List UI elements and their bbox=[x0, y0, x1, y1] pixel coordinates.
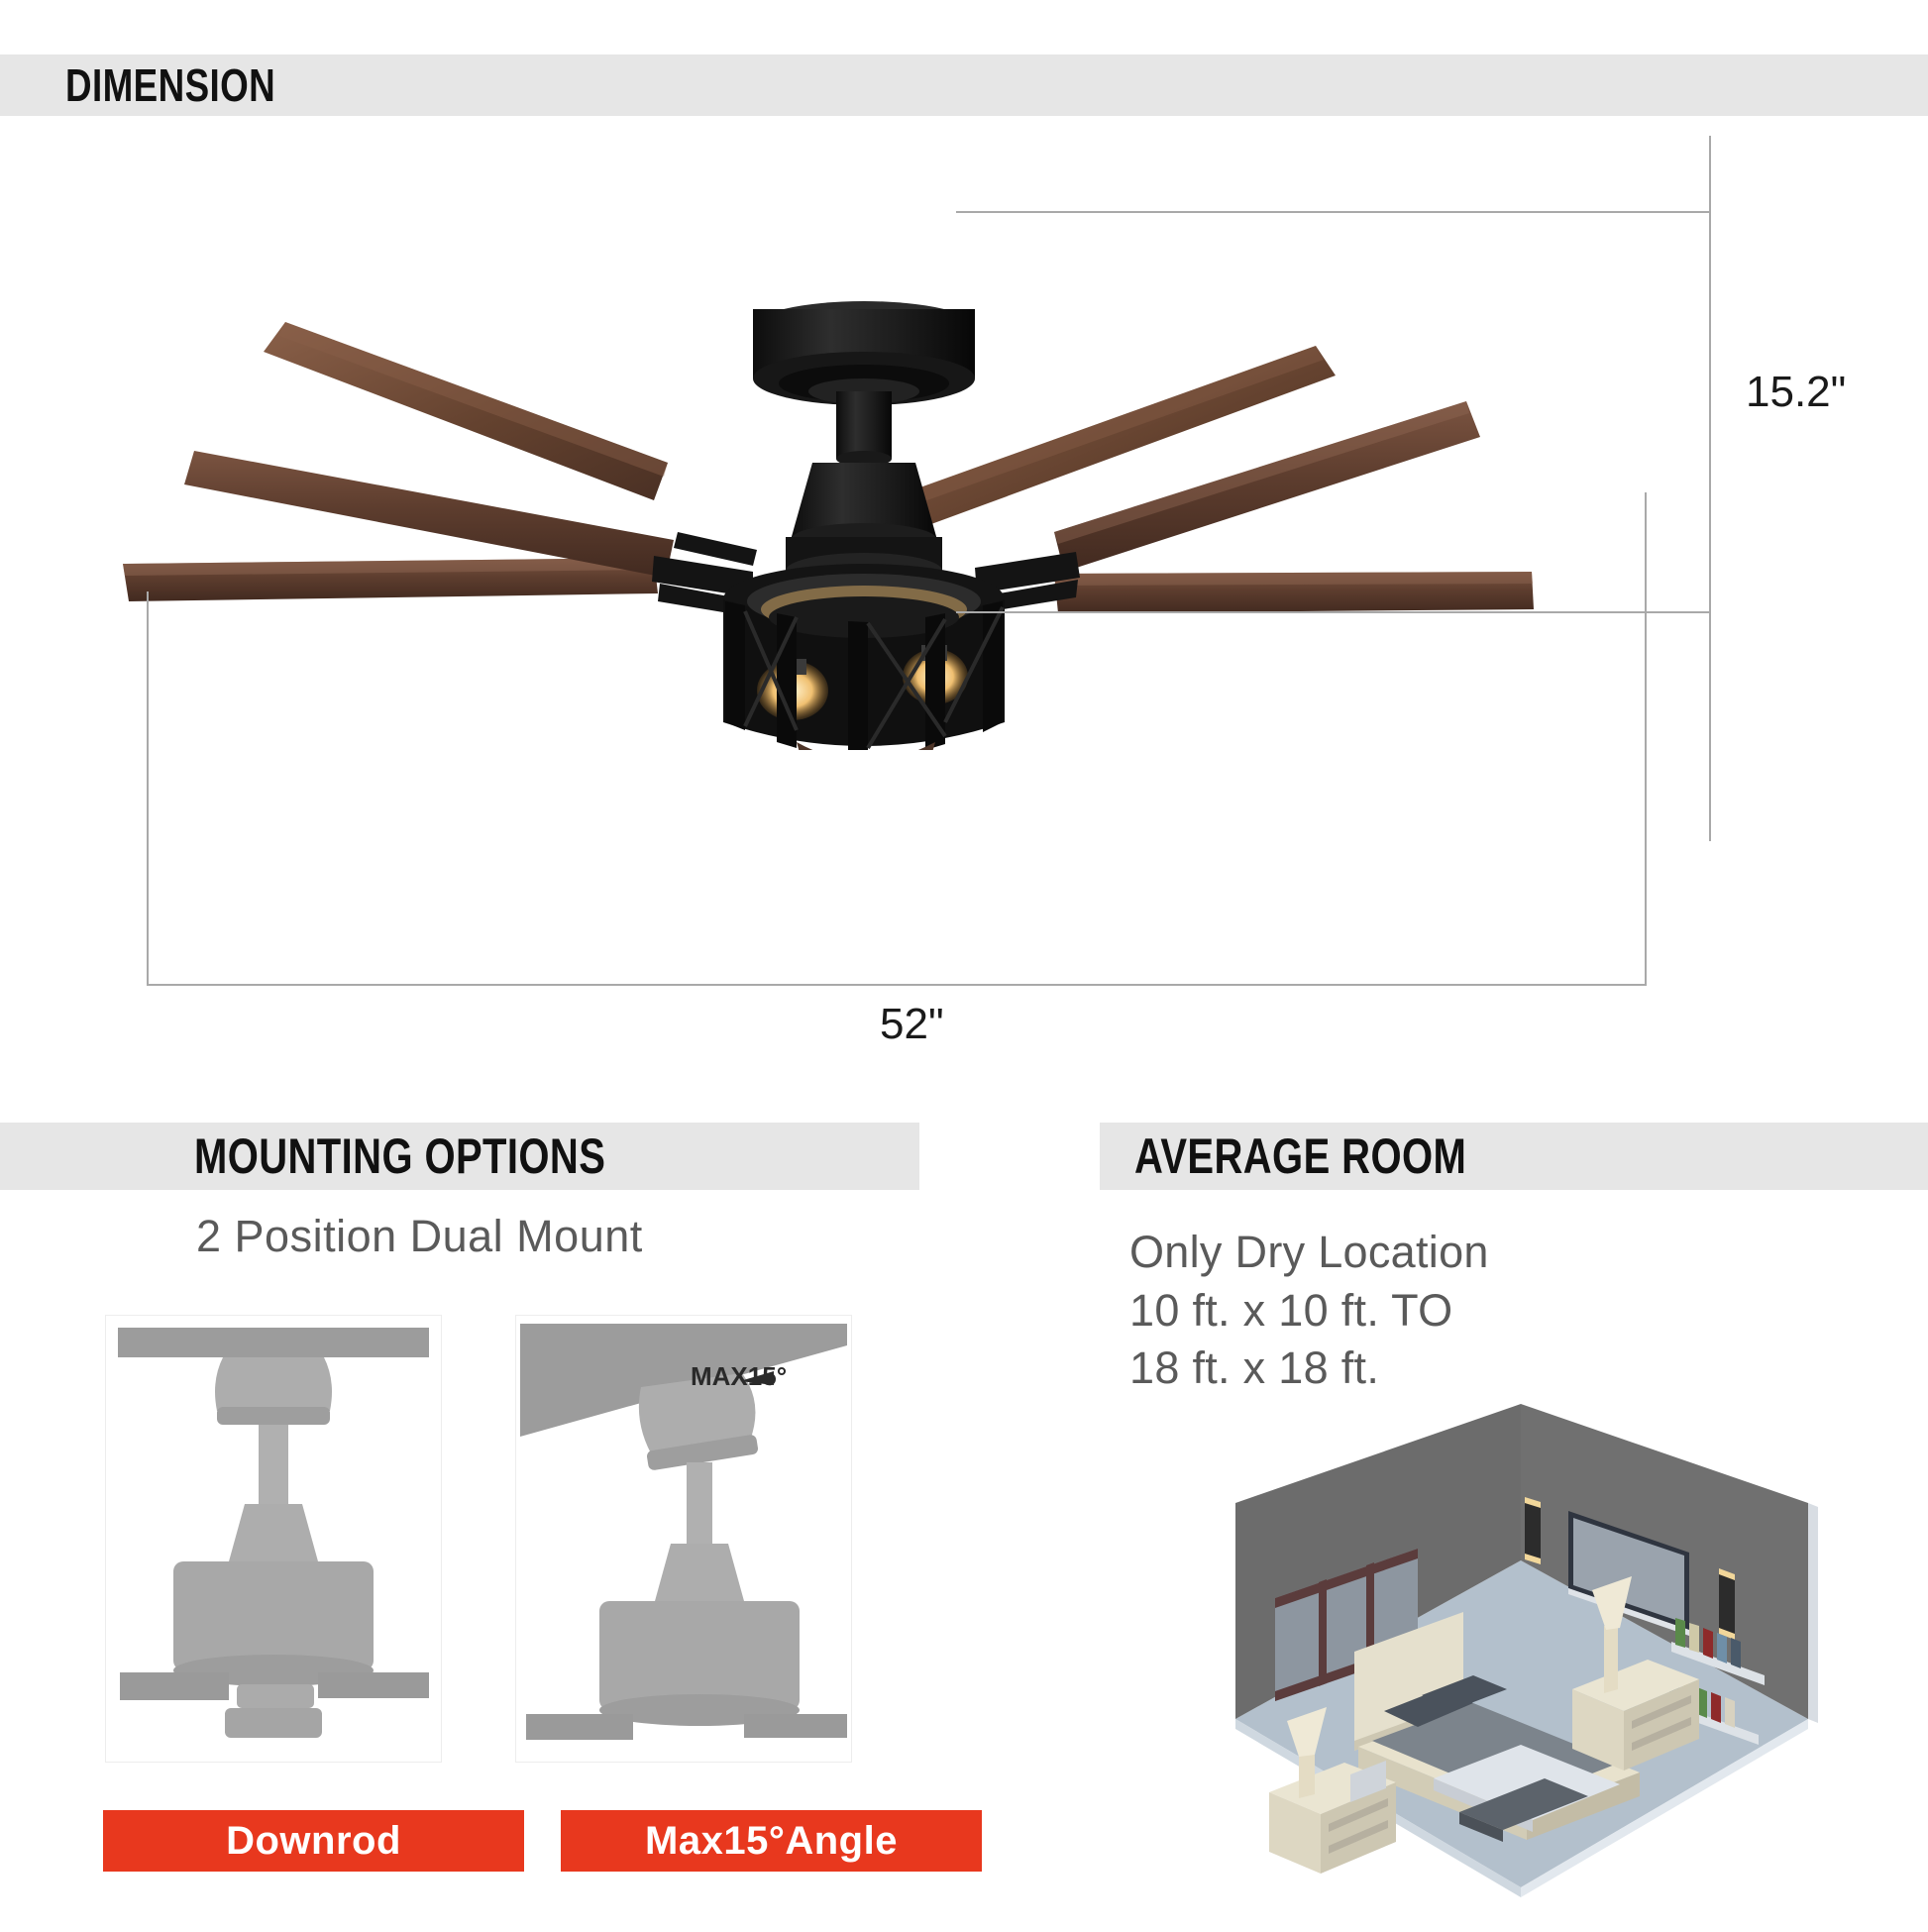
mounting-section-header: MOUNTING OPTIONS bbox=[0, 1123, 919, 1190]
dimension-title: DIMENSION bbox=[65, 58, 275, 112]
room-line-3: 18 ft. x 18 ft. bbox=[1129, 1340, 1764, 1398]
room-line-2: 10 ft. x 10 ft. TO bbox=[1129, 1282, 1764, 1341]
downrod-button[interactable]: Downrod bbox=[103, 1810, 524, 1872]
wall-sconce-upper bbox=[1525, 1497, 1541, 1564]
dimension-left-extension-line bbox=[147, 591, 149, 986]
room-description: Only Dry Location 10 ft. x 10 ft. TO 18 … bbox=[1129, 1224, 1764, 1398]
ceiling-fan-illustration bbox=[59, 136, 1645, 750]
fan-blade-front-left-far bbox=[123, 558, 658, 601]
dimension-figure: 15.2" 52" bbox=[0, 116, 1928, 1107]
fan-blade-front-right-far bbox=[1054, 572, 1534, 613]
max-angle-button-label: Max15°Angle bbox=[645, 1819, 898, 1864]
dimension-top-extension-line bbox=[956, 211, 1711, 213]
fan-canopy bbox=[753, 301, 975, 405]
room-title: AVERAGE ROOM bbox=[1134, 1127, 1466, 1185]
room-line-1: Only Dry Location bbox=[1129, 1224, 1764, 1282]
downrod-button-label: Downrod bbox=[226, 1819, 401, 1864]
dimension-width-line bbox=[147, 984, 1647, 986]
fan-light-cage bbox=[723, 564, 1005, 750]
max-angle-button[interactable]: Max15°Angle bbox=[561, 1810, 982, 1872]
room-section-header: AVERAGE ROOM bbox=[1100, 1123, 1928, 1190]
mount-diagram-downrod bbox=[105, 1315, 442, 1763]
product-spec-infographic: DIMENSION bbox=[0, 0, 1928, 1928]
dimension-mid-extension-line bbox=[956, 611, 1711, 613]
max-angle-annotation: MAX15° bbox=[691, 1361, 787, 1392]
dimension-section-header: DIMENSION bbox=[0, 54, 1928, 116]
mounting-title: MOUNTING OPTIONS bbox=[194, 1127, 605, 1185]
mounting-caption: 2 Position Dual Mount bbox=[196, 1211, 643, 1262]
mount-diagram-angled: MAX15° bbox=[515, 1315, 852, 1763]
isometric-bedroom-illustration bbox=[1125, 1392, 1917, 1927]
dimension-height-label: 15.2" bbox=[1746, 368, 1846, 417]
fan-blade-rear-left bbox=[264, 322, 668, 500]
dimension-height-line bbox=[1709, 136, 1711, 841]
wall-sconce-lower bbox=[1719, 1568, 1735, 1640]
dimension-width-label: 52" bbox=[880, 1000, 944, 1049]
dimension-right-extension-line bbox=[1645, 492, 1647, 986]
fan-downrod bbox=[836, 391, 892, 467]
